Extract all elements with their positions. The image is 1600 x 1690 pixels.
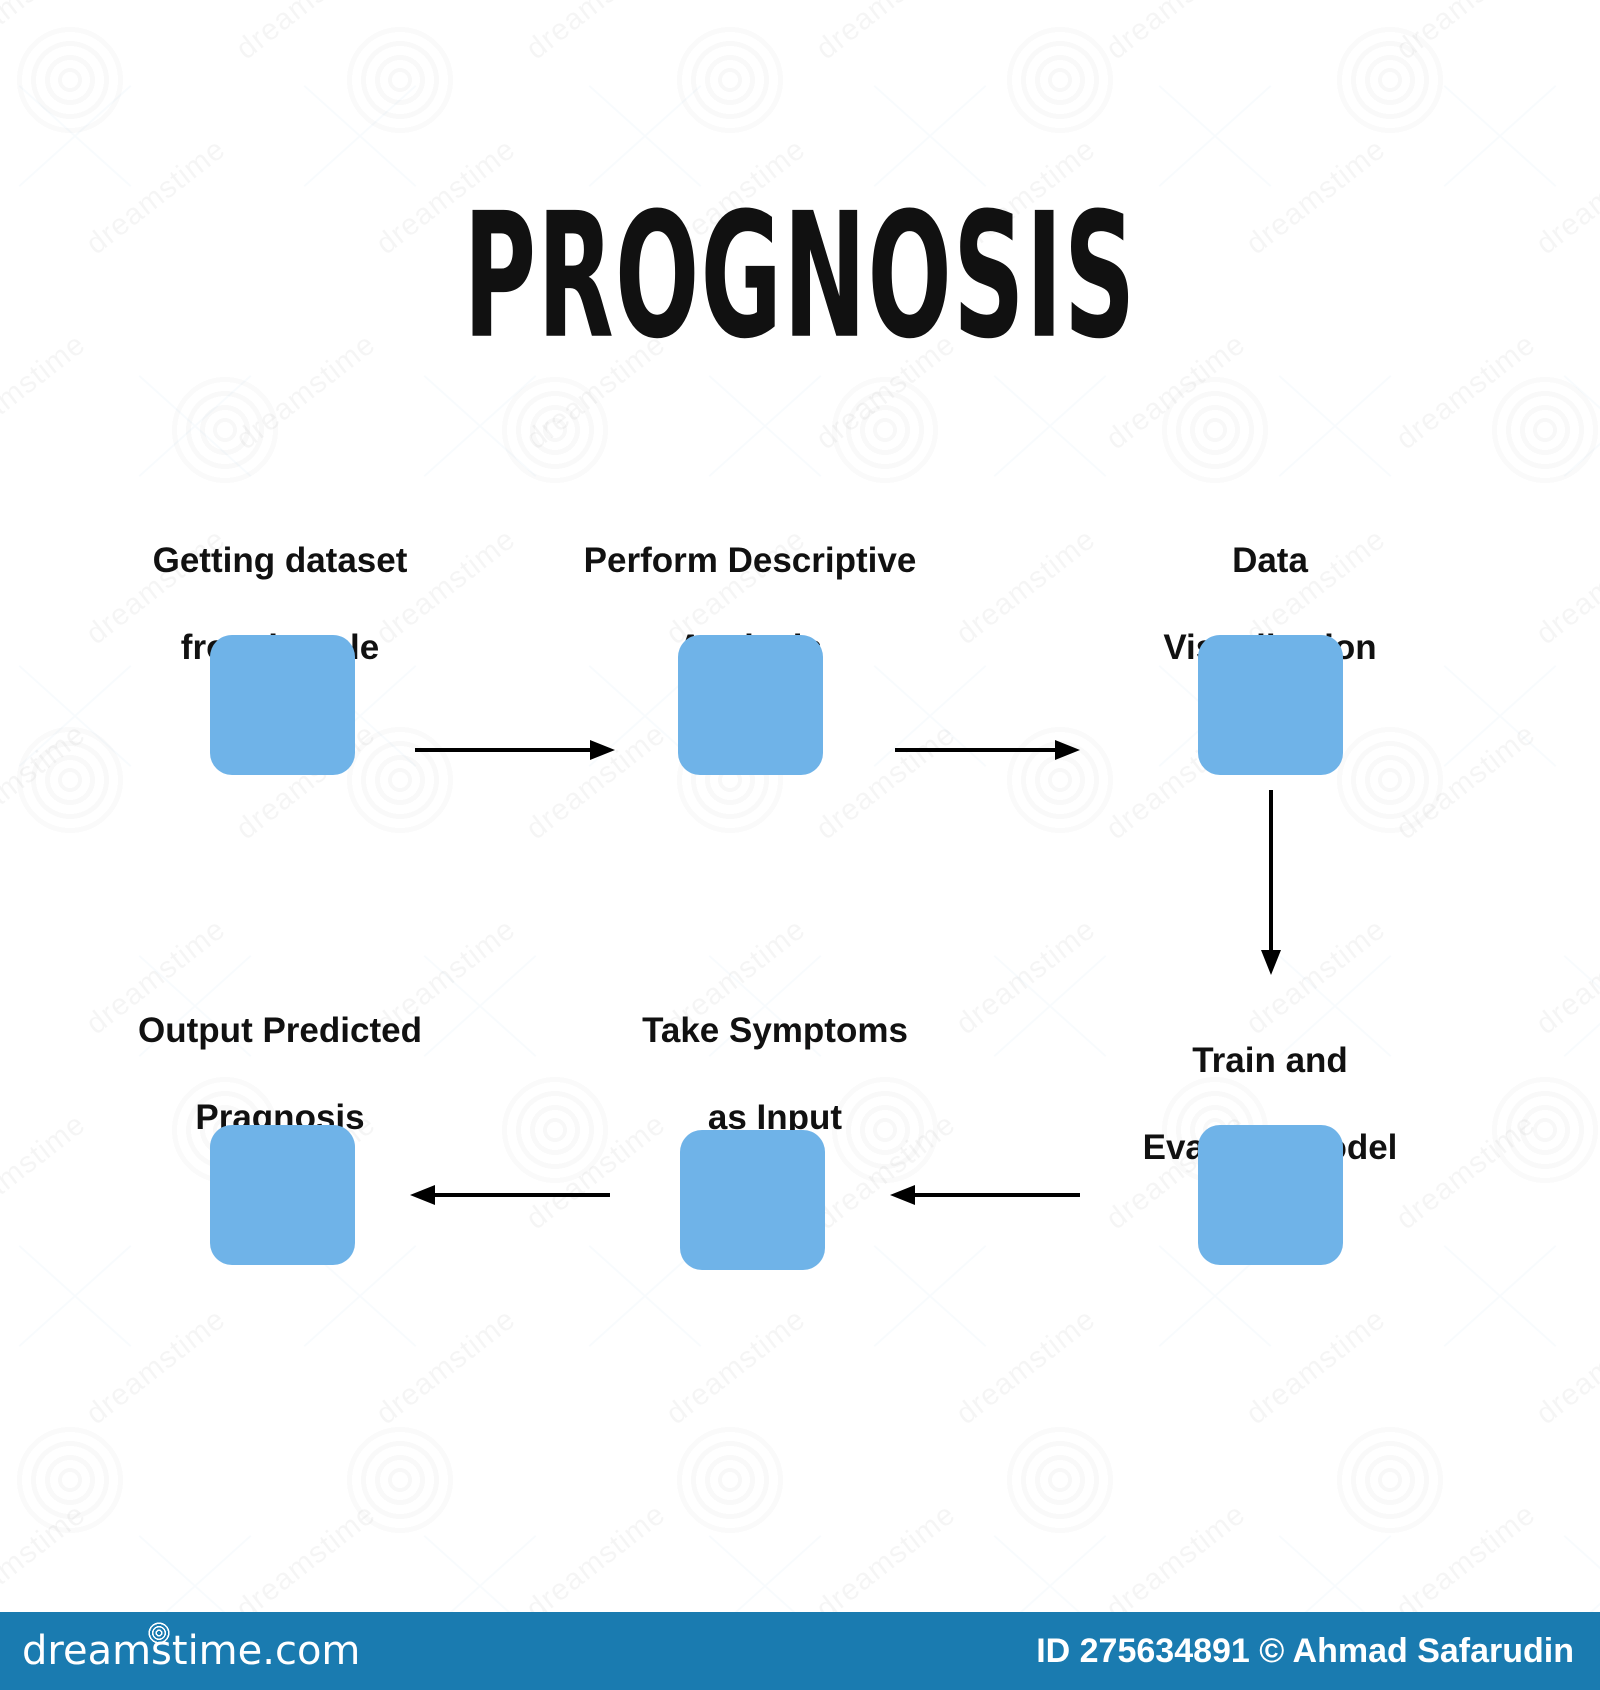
node-box-getting-dataset[interactable]: [210, 635, 355, 775]
node-box-data-visualization[interactable]: [1198, 635, 1343, 775]
arrow-visualization-to-train: [1256, 790, 1286, 975]
node-box-train-evaluate-model[interactable]: [1198, 1125, 1343, 1265]
node-label-line1: Output Predicted: [138, 1011, 422, 1050]
diagram-content: PROGNOSIS Getting dataset from kaggle Pe…: [0, 0, 1600, 1690]
node-label-output-predicted-prognosis: Output Predicted Pragnosis: [85, 965, 475, 1140]
node-label-line1: Train and: [1192, 1041, 1348, 1080]
arrow-analysis-to-visualization: [895, 735, 1080, 765]
node-train-evaluate-model[interactable]: Train and Evaluate Model: [1060, 995, 1480, 1295]
node-box-descriptive-analysis[interactable]: [678, 635, 823, 775]
node-data-visualization[interactable]: Data Visualization: [1090, 495, 1450, 795]
node-box-output-predicted-prognosis[interactable]: [210, 1125, 355, 1265]
page-title: PROGNOSIS: [304, 190, 1296, 363]
node-label-take-symptoms-input: Take Symptoms as Input: [585, 965, 965, 1140]
spiral-logo-icon: [148, 1622, 170, 1644]
node-output-predicted-prognosis[interactable]: Output Predicted Pragnosis: [85, 965, 475, 1275]
node-label-line1: Perform Descriptive: [584, 541, 917, 580]
image-credit: ID 275634891 © Ahmad Safarudin: [1036, 1632, 1574, 1671]
node-box-take-symptoms-input[interactable]: [680, 1130, 825, 1270]
diagram-canvas: dreamstimedreamstimedreamstimedreamstime…: [0, 0, 1600, 1690]
node-label-line1: Getting dataset: [153, 541, 408, 580]
node-take-symptoms-input[interactable]: Take Symptoms as Input: [585, 965, 965, 1265]
footer-bar: dreamstime.com ID 275634891 © Ahmad Safa…: [0, 1612, 1600, 1690]
node-label-line1: Data: [1232, 541, 1308, 580]
dreamstime-logo[interactable]: dreamstime.com: [22, 1628, 360, 1674]
node-label-line1: Take Symptoms: [642, 1011, 908, 1050]
